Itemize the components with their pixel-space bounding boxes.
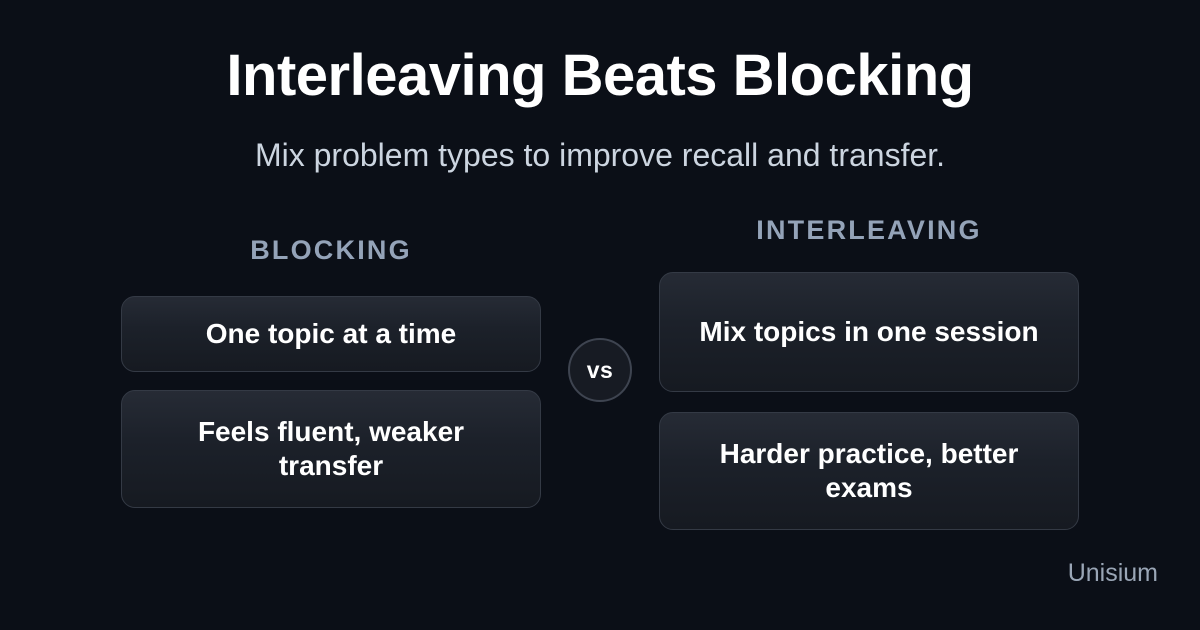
infographic-canvas: Interleaving Beats Blocking Mix problem … [0, 0, 1200, 630]
column-heading-blocking: BLOCKING [121, 235, 541, 266]
versus-badge: vs [568, 338, 632, 402]
blocking-card-1: One topic at a time [121, 296, 541, 372]
brand-wordmark: Unisium [1068, 559, 1158, 588]
interleaving-card-1: Mix topics in one session [659, 272, 1079, 392]
page-title: Interleaving Beats Blocking [0, 45, 1200, 108]
interleaving-card-2: Harder practice, better exams [659, 412, 1079, 530]
column-heading-interleaving: INTERLEAVING [659, 215, 1079, 246]
page-subtitle: Mix problem types to improve recall and … [0, 136, 1200, 174]
blocking-card-2: Feels fluent, weaker transfer [121, 390, 541, 508]
